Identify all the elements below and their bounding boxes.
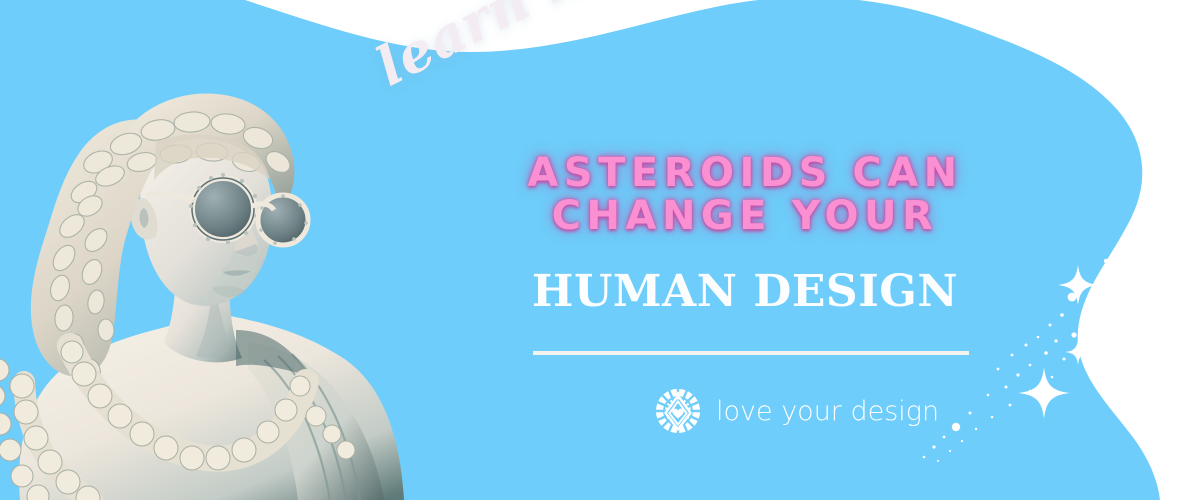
statue-illustration [0, 30, 450, 500]
horizontal-divider [533, 351, 969, 355]
headline-line-2: CHANGE YOUR [505, 195, 985, 238]
brand-logo-lockup[interactable]: love your design [654, 387, 939, 435]
classical-marble-bust-with-round-sunglasses [0, 30, 450, 500]
subheadline: HUMAN DESIGN [505, 270, 985, 314]
brand-wordmark: love your design [716, 398, 939, 425]
headline: ASTEROIDS CAN CHANGE YOUR [505, 152, 985, 238]
sunburst-mandala-heart-icon [654, 387, 702, 435]
headline-line-1: ASTEROIDS CAN [527, 150, 962, 196]
banner-root: learn how ASTEROIDS CAN CHANGE YOUR HUMA… [0, 0, 1200, 500]
